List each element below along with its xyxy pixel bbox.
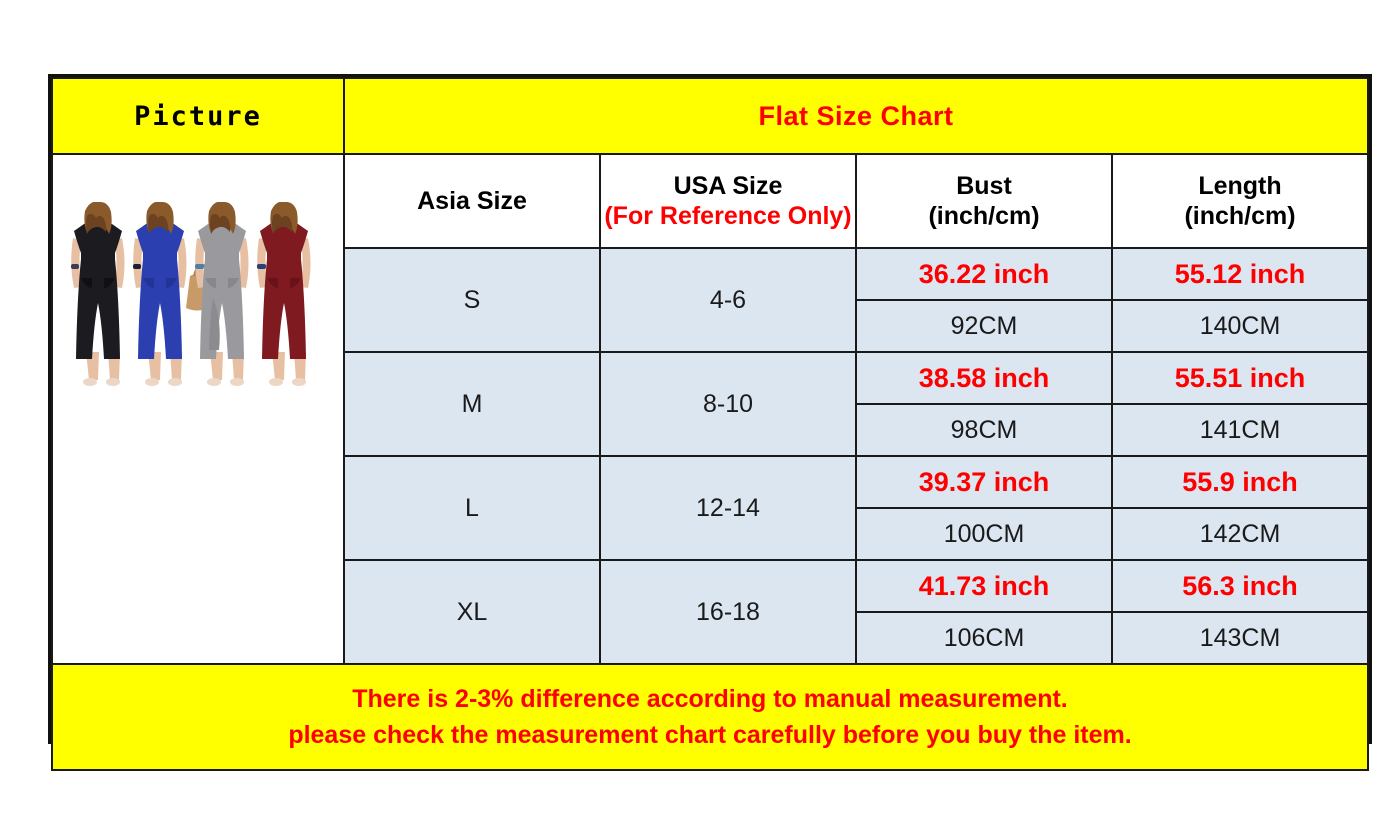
- asia-size-value: L: [344, 456, 600, 560]
- usa-size-value: 8-10: [600, 352, 856, 456]
- length-inch-value: 56.3 inch: [1112, 560, 1368, 612]
- size-chart-frame: Picture Flat Size Chart: [48, 74, 1372, 744]
- table-header-banner-row: Picture Flat Size Chart: [52, 78, 1368, 154]
- bust-cm-value: 98CM: [856, 404, 1112, 456]
- product-photo-cell: [52, 154, 344, 664]
- usa-size-value: 16-18: [600, 560, 856, 664]
- models-illustration: [64, 202, 332, 392]
- bust-inch-value: 39.37 inch: [856, 456, 1112, 508]
- length-cm-value: 142CM: [1112, 508, 1368, 560]
- length-header-line2: (inch/cm): [1113, 201, 1367, 231]
- length-cm-value: 140CM: [1112, 300, 1368, 352]
- bust-column-header: Bust (inch/cm): [856, 154, 1112, 248]
- bust-inch-value: 38.58 inch: [856, 352, 1112, 404]
- length-inch-value: 55.12 inch: [1112, 248, 1368, 300]
- asia-size-value: M: [344, 352, 600, 456]
- bust-cm-value: 100CM: [856, 508, 1112, 560]
- picture-column-header: Picture: [52, 78, 344, 154]
- asia-size-column-header: Asia Size: [344, 154, 600, 248]
- burgundy-dress-model: [257, 202, 311, 386]
- bust-header-line1: Bust: [857, 171, 1111, 201]
- length-inch-value: 55.9 inch: [1112, 456, 1368, 508]
- usa-size-header-line1: USA Size: [601, 171, 855, 201]
- flat-size-chart-title: Flat Size Chart: [344, 78, 1368, 154]
- usa-size-column-header: USA Size (For Reference Only): [600, 154, 856, 248]
- asia-size-value: XL: [344, 560, 600, 664]
- asia-size-value: S: [344, 248, 600, 352]
- usa-size-value: 4-6: [600, 248, 856, 352]
- black-dress-model: [71, 202, 125, 386]
- royal-blue-dress-model: [133, 202, 187, 386]
- product-photo: [53, 202, 343, 710]
- length-inch-value: 55.51 inch: [1112, 352, 1368, 404]
- bust-cm-value: 106CM: [856, 612, 1112, 664]
- size-chart-table: Picture Flat Size Chart: [51, 77, 1369, 771]
- bust-header-line2: (inch/cm): [857, 201, 1111, 231]
- length-column-header: Length (inch/cm): [1112, 154, 1368, 248]
- bust-inch-value: 36.22 inch: [856, 248, 1112, 300]
- bust-cm-value: 92CM: [856, 300, 1112, 352]
- table-column-header-row: Asia Size USA Size (For Reference Only) …: [52, 154, 1368, 248]
- size-chart-page: Picture Flat Size Chart: [0, 0, 1400, 840]
- length-header-line1: Length: [1113, 171, 1367, 201]
- usa-size-header-line2: (For Reference Only): [601, 201, 855, 231]
- usa-size-value: 12-14: [600, 456, 856, 560]
- length-cm-value: 141CM: [1112, 404, 1368, 456]
- length-cm-value: 143CM: [1112, 612, 1368, 664]
- bust-inch-value: 41.73 inch: [856, 560, 1112, 612]
- measurement-note-line2: please check the measurement chart caref…: [53, 717, 1367, 753]
- gray-dress-model: [186, 202, 249, 386]
